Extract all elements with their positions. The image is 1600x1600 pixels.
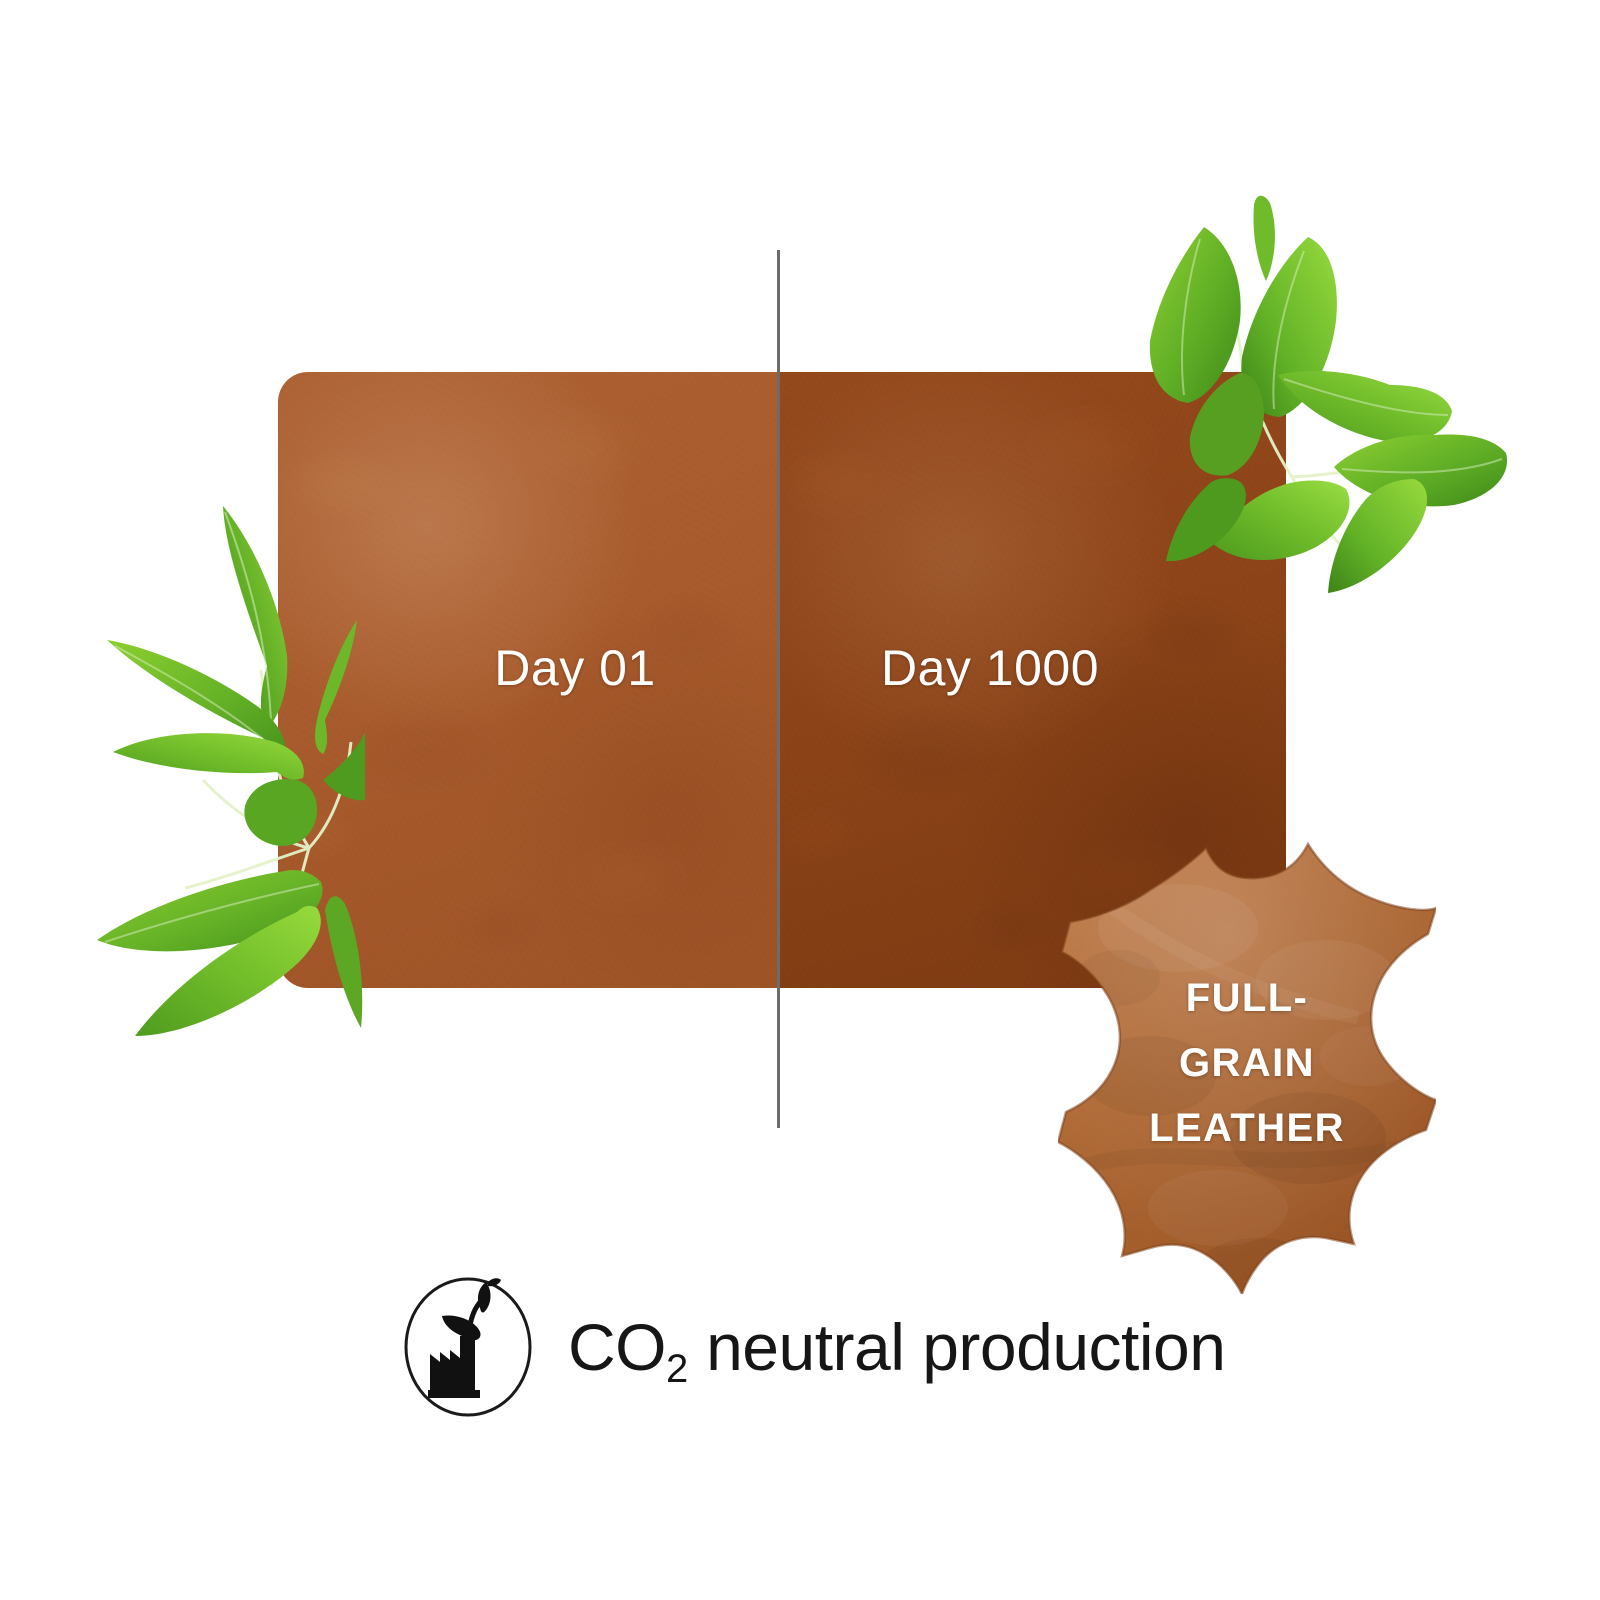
hide-label-line-1: FULL- [1058,966,1436,1031]
co2-suffix: neutral production [688,1310,1225,1384]
day-1000-label: Day 1000 [790,643,1190,693]
factory-with-sprout-icon [398,1272,538,1422]
full-grain-leather-badge: FULL- GRAIN LEATHER [1058,838,1436,1294]
product-graphic-canvas: Day 01 Day 1000 [0,0,1600,1600]
co2-subscript: 2 [666,1347,688,1391]
co2-prefix: CO [568,1310,666,1384]
full-grain-leather-label: FULL- GRAIN LEATHER [1058,966,1436,1160]
comparison-divider-line [777,250,780,1128]
day-01-label: Day 01 [380,643,770,693]
co2-neutral-label: CO2 neutral production [568,1314,1225,1380]
hide-label-line-3: LEATHER [1058,1096,1436,1161]
hide-label-line-2: GRAIN [1058,1031,1436,1096]
co2-neutral-badge: CO2 neutral production [398,1272,1225,1422]
